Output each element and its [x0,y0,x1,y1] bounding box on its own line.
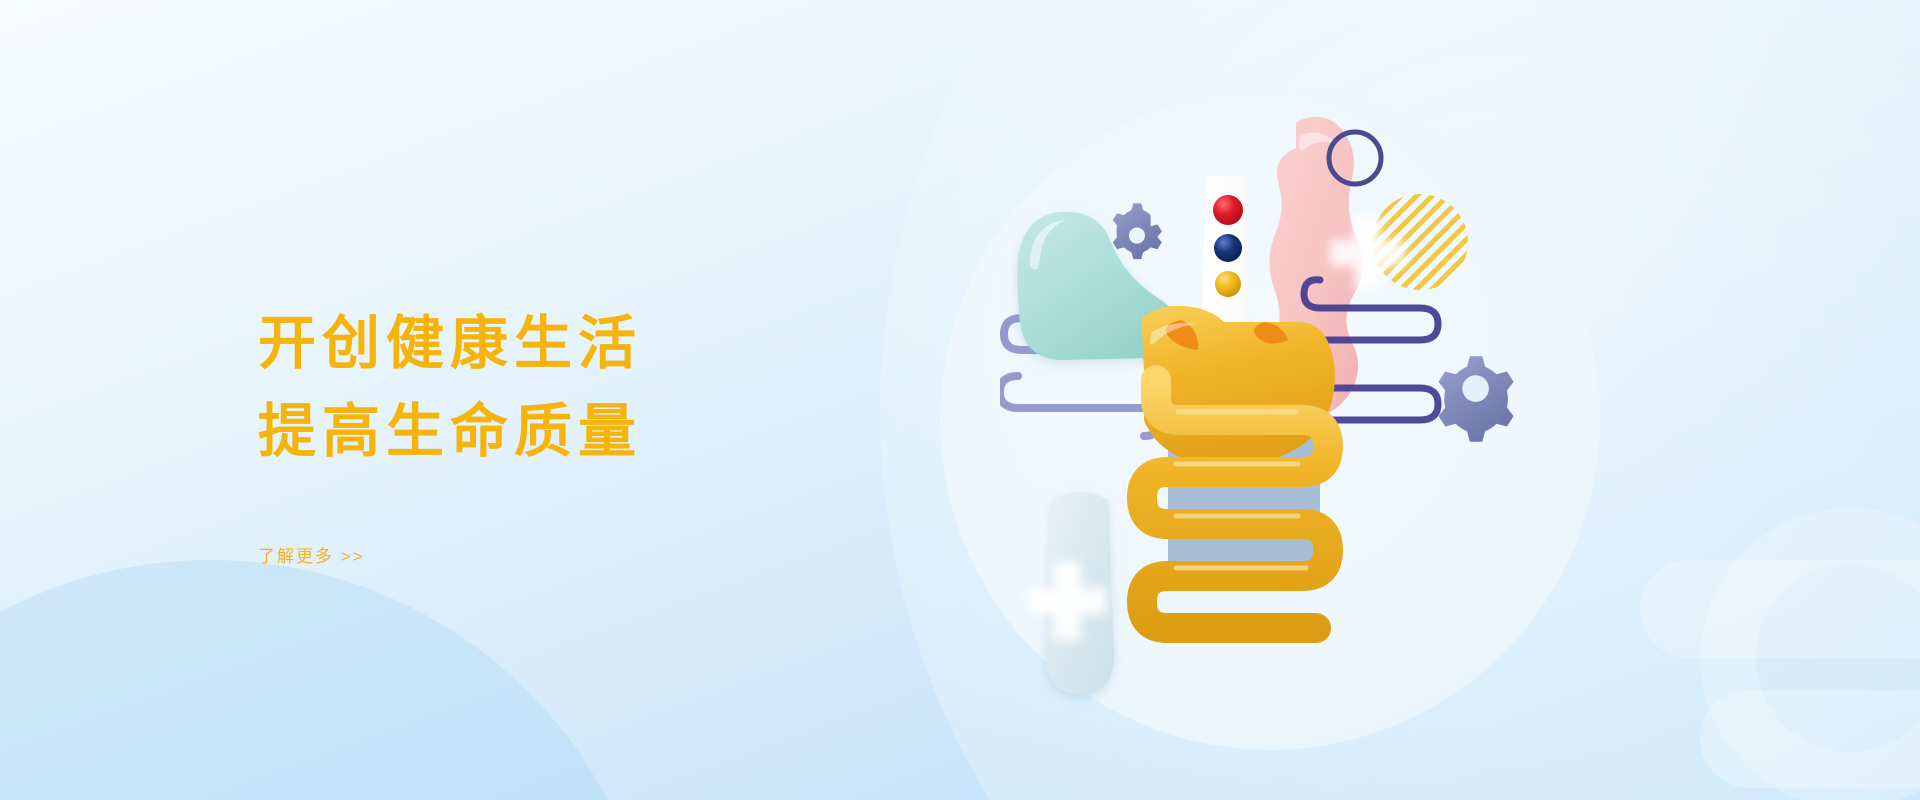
digestive-system-illustration [1000,80,1560,760]
headline-line-2: 提高生命质量 [258,388,898,476]
headline-line-1: 开创健康生活 [258,311,642,376]
banner-copy: 开创健康生活 提高生命质量 了解更多 >> [258,300,898,567]
gear-large [1439,356,1514,442]
pill-dots [1213,195,1243,297]
background-lower-left-circle [0,560,660,800]
learn-more-link[interactable]: 了解更多 >> [258,542,365,567]
watermark-ring [1700,508,1920,800]
pill-dot-navy [1214,234,1242,262]
health-banner: 开创健康生活 提高生命质量 了解更多 >> [0,0,1920,800]
pill-dot-red [1213,195,1243,225]
watermark-pill-lower [1700,690,1920,788]
page-title: 开创健康生活 提高生命质量 [258,300,898,476]
pill-dot-yellow [1215,271,1241,297]
watermark-pill-upper [1640,560,1920,658]
gear-small [1113,203,1162,259]
